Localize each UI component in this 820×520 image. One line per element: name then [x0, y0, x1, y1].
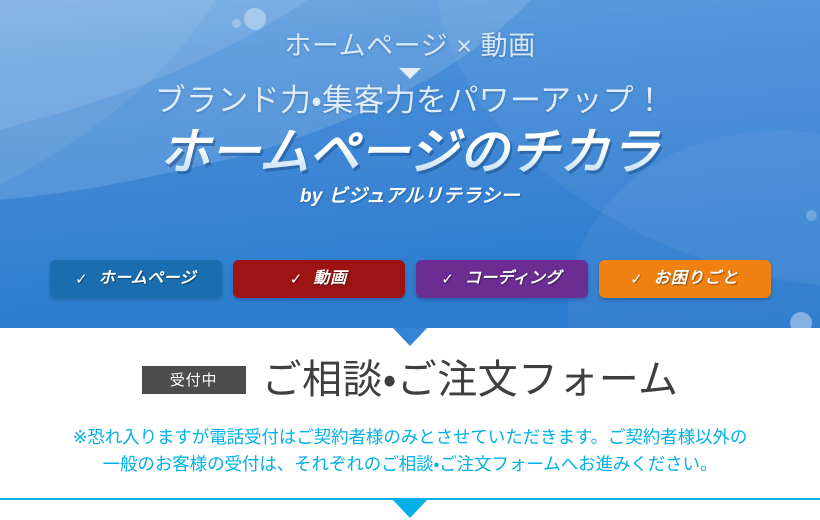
check-icon: ✓ — [290, 272, 303, 287]
hero-banner: ホームページ × 動画 ブランド力・集客力をパワーアップ！ ホームページのチカラ… — [0, 0, 820, 328]
nav-pill-coding[interactable]: ✓ コーディング — [416, 260, 588, 298]
notice-line-1: ※恐れ入りますが電話受付はご契約者様のみとさせていただきます。ご契約者様以外の — [6, 424, 814, 451]
nav-pill-video[interactable]: ✓ 動画 — [233, 260, 405, 298]
page-title: ホームページのチカラ — [0, 124, 820, 180]
hero-tagline-secondary: ブランド力・集客力をパワーアップ！ — [0, 81, 820, 119]
nav-pill-label: 動画 — [313, 271, 347, 287]
check-icon: ✓ — [441, 272, 454, 287]
section-triangle-down-icon — [393, 500, 427, 518]
nav-pill-homepage[interactable]: ✓ ホームページ — [50, 260, 222, 298]
triangle-down-icon — [399, 68, 421, 79]
decorative-bubble-icon — [790, 312, 812, 328]
notice-text: ※恐れ入りますが電話受付はご契約者様のみとさせていただきます。ご契約者様以外の … — [0, 424, 820, 477]
form-intro-section: 受付中 ご相談・ご注文フォーム ※恐れ入りますが電話受付はご契約者様のみとさせて… — [0, 328, 820, 520]
nav-pill-label: ホームページ — [99, 271, 196, 287]
check-icon: ✓ — [75, 272, 88, 287]
check-icon: ✓ — [630, 272, 643, 287]
hero-content: ホームページ × 動画 ブランド力・集客力をパワーアップ！ ホームページのチカラ… — [0, 0, 820, 209]
nav-pill-troubles[interactable]: ✓ お困りごと — [599, 260, 771, 298]
nav-pill-label: コーディング — [465, 271, 562, 287]
hero-nav-pills: ✓ ホームページ ✓ 動画 ✓ コーディング ✓ お困りごと — [0, 260, 820, 298]
hero-tagline-primary: ホームページ × 動画 — [0, 0, 820, 62]
page-root: ホームページ × 動画 ブランド力・集客力をパワーアップ！ ホームページのチカラ… — [0, 0, 820, 520]
decorative-bubble-icon — [806, 210, 817, 221]
nav-pill-label: お困りごと — [654, 271, 739, 287]
notice-line-2: 一般のお客様の受付は、それぞれのご相談・ご注文フォームへお進みください。 — [6, 451, 814, 478]
hero-byline: by ビジュアルリテラシー — [0, 186, 820, 209]
section-heading-row: 受付中 ご相談・ご注文フォーム — [0, 358, 820, 402]
hero-triangle-down-icon — [393, 328, 427, 346]
status-badge: 受付中 — [142, 366, 246, 394]
section-title: ご相談・ご注文フォーム — [262, 358, 679, 402]
